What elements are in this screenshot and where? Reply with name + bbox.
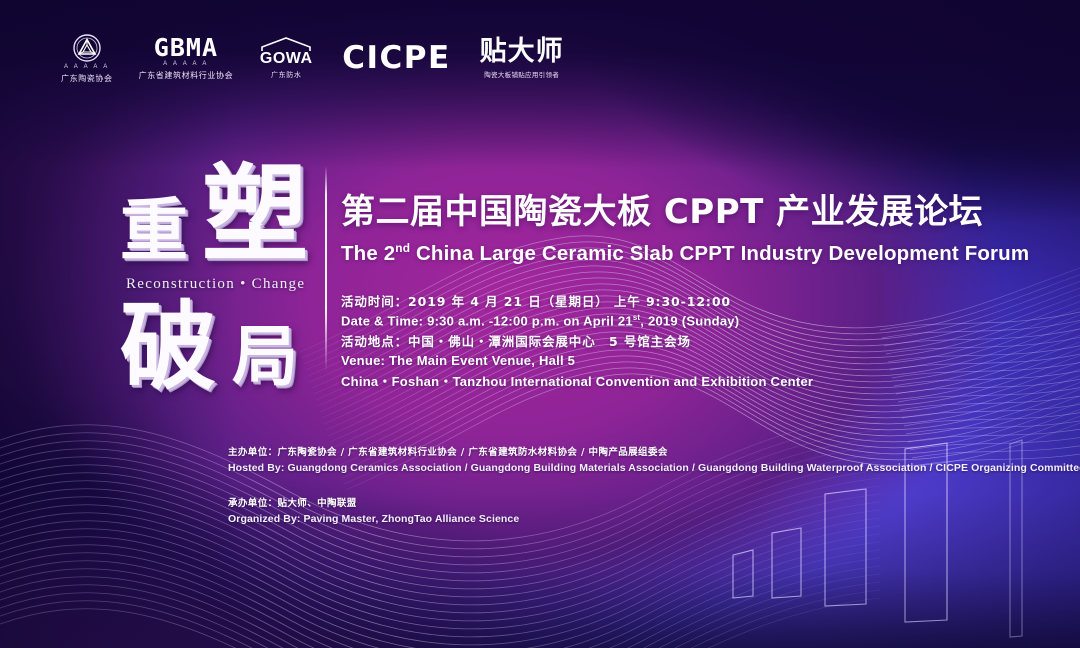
forum-title-chinese: 第二届中国陶瓷大板 CPPT 产业发展论坛	[341, 192, 1021, 232]
hero-slogan-block: 重 塑 Reconstruction • Change 破 局	[120, 150, 320, 395]
event-date-chinese: 活动时间：2019 年 4 月 21 日（星期日） 上午 9:30-12:00	[341, 291, 1021, 310]
logo-cicpe[interactable]: CICPE	[326, 27, 466, 89]
hero-slogan-row-two: 破 局	[120, 299, 320, 395]
date-en-rest: , 2019 (Sunday)	[640, 313, 739, 328]
logo-sub-aaaaa: A A A A A	[163, 61, 209, 67]
event-title-block: 第二届中国陶瓷大板 CPPT 产业发展论坛 The 2nd China Larg…	[341, 192, 1021, 393]
title-en-prefix: The 2	[341, 242, 395, 265]
gbma-wordmark: GBMA	[154, 35, 218, 60]
host-credit-chinese: 主办单位：广东陶瓷协会 / 广东省建筑材料行业协会 / 广东省建筑防水材料协会 …	[228, 444, 1080, 458]
event-venue-chinese: 活动地点：中国・佛山・潭洲国际会展中心 5 号馆主会场	[341, 331, 1021, 350]
triangle-emblem-icon	[72, 33, 102, 63]
credits-block: 主办单位：广东陶瓷协会 / 广东省建筑材料行业协会 / 广东省建筑防水材料协会 …	[228, 444, 1080, 546]
paving-master-wordmark: 贴大师	[480, 38, 564, 65]
title-en-superscript: nd	[395, 241, 410, 255]
logo-cn-name: 广东防水	[271, 70, 301, 80]
hero-slogan-row-one: 重 塑	[120, 150, 320, 268]
gowa-wordmark: GOWA	[260, 51, 313, 67]
hero-char-su: 塑	[202, 162, 308, 268]
logo-cn-name: 广东陶瓷协会	[61, 73, 113, 84]
hero-char-chong: 重	[120, 198, 188, 266]
event-date-english: Date & Time: 9:30 a.m. -12:00 p.m. on Ap…	[341, 313, 1021, 328]
date-en-prefix: Date & Time: 9:30 a.m. -12:00 p.m. on Ap…	[341, 313, 633, 328]
hero-char-ju: 局	[232, 324, 298, 390]
event-details: 活动时间：2019 年 4 月 21 日（星期日） 上午 9:30-12:00 …	[341, 291, 1021, 390]
logo-sub-aaaaa: A A A A A	[64, 64, 110, 70]
logo-gbma[interactable]: GBMA A A A A A 广东省建筑材料行业协会	[126, 27, 247, 89]
logo-cn-name: 广东省建筑材料行业协会	[139, 70, 234, 81]
host-credit-english: Hosted By: Guangdong Ceramics Associatio…	[228, 462, 1080, 474]
logo-paving-master[interactable]: 贴大师 陶瓷大板铺贴应用引领者	[467, 27, 577, 89]
organizer-credit-english: Organized By: Paving Master, ZhongTao Al…	[228, 513, 1080, 525]
vertical-divider	[325, 166, 327, 371]
organizer-credit: 承办单位：贴大师、中陶联盟 Organized By: Paving Maste…	[228, 495, 1080, 525]
event-venue-english-center: China・Foshan・Tanzhou International Conve…	[341, 371, 1021, 390]
logo-gowa[interactable]: GOWA 广东防水	[246, 27, 326, 89]
event-poster: A A A A A 广东陶瓷协会 GBMA A A A A A 广东省建筑材料行…	[0, 0, 1080, 648]
host-credit: 主办单位：广东陶瓷协会 / 广东省建筑材料行业协会 / 广东省建筑防水材料协会 …	[228, 444, 1080, 474]
event-venue-english-hall: Venue: The Main Event Venue, Hall 5	[341, 353, 1021, 368]
hero-char-po: 破	[120, 299, 216, 395]
organizer-credit-chinese: 承办单位：贴大师、中陶联盟	[228, 495, 1080, 509]
forum-title-english: The 2nd China Large Ceramic Slab CPPT In…	[341, 241, 1021, 266]
sponsor-logo-bar: A A A A A 广东陶瓷协会 GBMA A A A A A 广东省建筑材料行…	[48, 27, 577, 89]
cicpe-wordmark: CICPE	[342, 43, 450, 74]
title-en-rest: China Large Ceramic Slab CPPT Industry D…	[410, 242, 1029, 265]
logo-cn-tagline: 陶瓷大板铺贴应用引领者	[484, 69, 559, 79]
logo-guangdong-ceramics-association[interactable]: A A A A A 广东陶瓷协会	[48, 27, 126, 89]
